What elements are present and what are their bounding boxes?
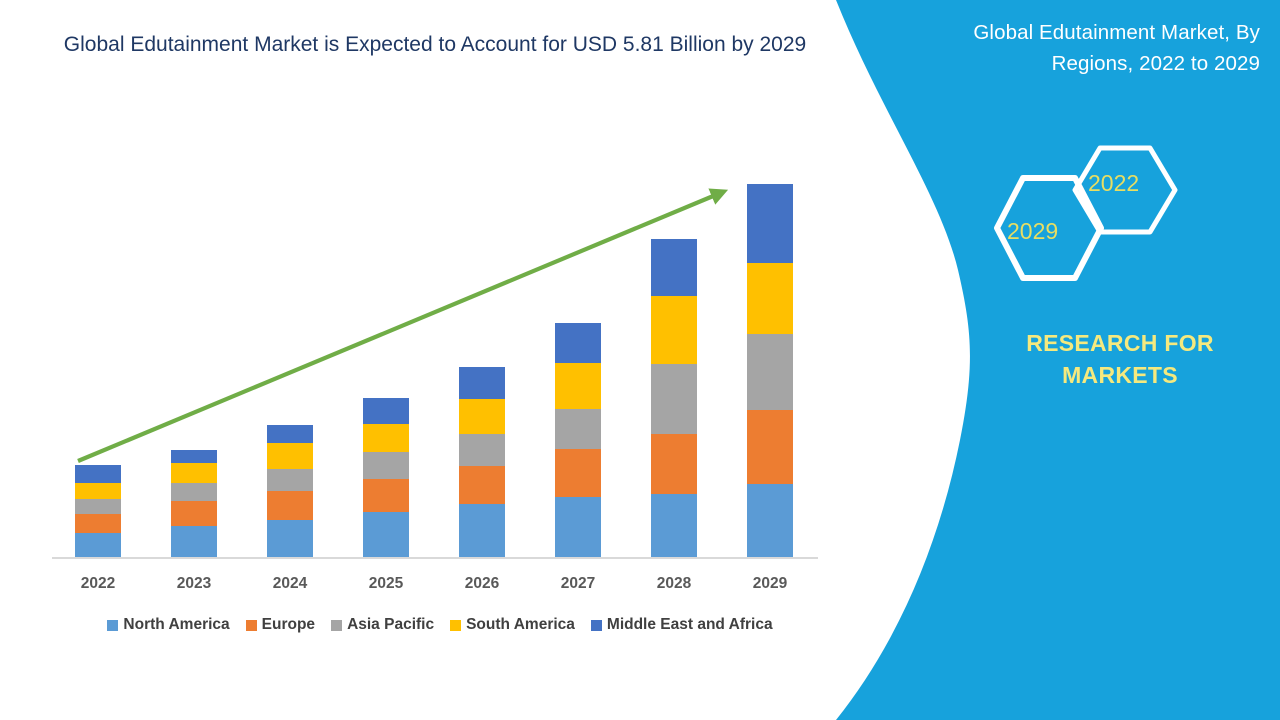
legend-item-north-america[interactable]: North America: [107, 616, 229, 634]
bar-segment-asia-pacific-2022: [75, 499, 121, 514]
bar-2027[interactable]: [555, 323, 601, 557]
bar-segment-south-america-2029: [747, 263, 793, 334]
legend-label-asia-pacific: Asia Pacific: [347, 616, 434, 634]
bar-segment-middle-east-and-africa-2026: [459, 367, 505, 399]
growth-arrow-icon: [0, 0, 840, 600]
legend-item-europe[interactable]: Europe: [246, 616, 315, 634]
legend-swatch-middle-east-and-africa: [591, 620, 602, 631]
bar-segment-middle-east-and-africa-2025: [363, 398, 409, 423]
bar-2028[interactable]: [651, 239, 697, 557]
bar-segment-europe-2029: [747, 410, 793, 484]
x-axis-label-2028: 2028: [634, 575, 714, 593]
bar-segment-asia-pacific-2024: [267, 469, 313, 491]
bar-segment-europe-2027: [555, 449, 601, 497]
bar-chart-plot-area: 20222023202420252026202720282029: [0, 0, 840, 600]
bar-2029[interactable]: [747, 184, 793, 557]
bar-segment-europe-2026: [459, 466, 505, 504]
legend-swatch-north-america: [107, 620, 118, 631]
bar-segment-north-america-2027: [555, 497, 601, 557]
bar-segment-north-america-2029: [747, 484, 793, 557]
bar-segment-north-america-2024: [267, 520, 313, 557]
bar-2026[interactable]: [459, 367, 505, 557]
x-axis-label-2024: 2024: [250, 575, 330, 593]
bar-segment-asia-pacific-2027: [555, 409, 601, 449]
bar-segment-north-america-2026: [459, 504, 505, 557]
bar-segment-north-america-2028: [651, 494, 697, 557]
legend-swatch-europe: [246, 620, 257, 631]
legend-label-middle-east-and-africa: Middle East and Africa: [607, 616, 773, 634]
bar-2025[interactable]: [363, 398, 409, 557]
x-axis-label-2029: 2029: [730, 575, 810, 593]
brand-wordmark: RESEARCH FOR MARKETS: [960, 328, 1280, 391]
bar-segment-asia-pacific-2026: [459, 434, 505, 467]
bar-2022[interactable]: [75, 465, 121, 557]
bar-segment-middle-east-and-africa-2022: [75, 465, 121, 484]
bar-segment-south-america-2027: [555, 363, 601, 410]
x-axis-label-2027: 2027: [538, 575, 618, 593]
bar-segment-asia-pacific-2023: [171, 483, 217, 501]
bar-segment-europe-2025: [363, 479, 409, 512]
bar-segment-middle-east-and-africa-2023: [171, 450, 217, 463]
legend-item-south-america[interactable]: South America: [450, 616, 575, 634]
bar-segment-south-america-2022: [75, 483, 121, 499]
legend-swatch-asia-pacific: [331, 620, 342, 631]
brand-line-2: MARKETS: [960, 360, 1280, 392]
hexagon-2022-label: 2022: [1088, 170, 1139, 197]
bar-2024[interactable]: [267, 425, 313, 557]
bar-segment-south-america-2024: [267, 443, 313, 469]
bar-segment-europe-2022: [75, 514, 121, 533]
bar-segment-south-america-2025: [363, 424, 409, 453]
brand-line-1: RESEARCH FOR: [960, 328, 1280, 360]
bar-segment-middle-east-and-africa-2027: [555, 323, 601, 363]
bar-segment-middle-east-and-africa-2028: [651, 239, 697, 296]
panel-title: Global Edutainment Market, By Regions, 2…: [900, 18, 1260, 80]
bar-segment-south-america-2028: [651, 296, 697, 365]
bar-segment-asia-pacific-2025: [363, 452, 409, 479]
slide-canvas: Global Edutainment Market, By Regions, 2…: [0, 0, 1280, 720]
hexagon-2029-label: 2029: [1007, 218, 1058, 245]
legend-label-north-america: North America: [123, 616, 229, 634]
x-axis-label-2026: 2026: [442, 575, 522, 593]
bar-segment-south-america-2026: [459, 399, 505, 434]
bar-segment-europe-2024: [267, 491, 313, 520]
x-axis-line: [52, 557, 818, 559]
bar-segment-south-america-2023: [171, 463, 217, 483]
x-axis-label-2025: 2025: [346, 575, 426, 593]
bar-segment-middle-east-and-africa-2029: [747, 184, 793, 263]
x-axis-label-2023: 2023: [154, 575, 234, 593]
legend-label-europe: Europe: [262, 616, 315, 634]
bar-segment-north-america-2025: [363, 512, 409, 557]
bar-segment-asia-pacific-2029: [747, 334, 793, 410]
bar-2023[interactable]: [171, 450, 217, 557]
legend-label-south-america: South America: [466, 616, 575, 634]
chart-legend: North AmericaEuropeAsia PacificSouth Ame…: [55, 616, 825, 634]
legend-swatch-south-america: [450, 620, 461, 631]
bar-segment-north-america-2023: [171, 526, 217, 557]
hexagon-badge-group: 2022 2029: [975, 140, 1205, 285]
bar-segment-north-america-2022: [75, 533, 121, 557]
bar-segment-europe-2023: [171, 501, 217, 526]
legend-item-middle-east-and-africa[interactable]: Middle East and Africa: [591, 616, 773, 634]
bar-segment-europe-2028: [651, 434, 697, 494]
bar-segment-middle-east-and-africa-2024: [267, 425, 313, 444]
x-axis-label-2022: 2022: [58, 575, 138, 593]
legend-item-asia-pacific[interactable]: Asia Pacific: [331, 616, 434, 634]
bar-segment-asia-pacific-2028: [651, 364, 697, 434]
